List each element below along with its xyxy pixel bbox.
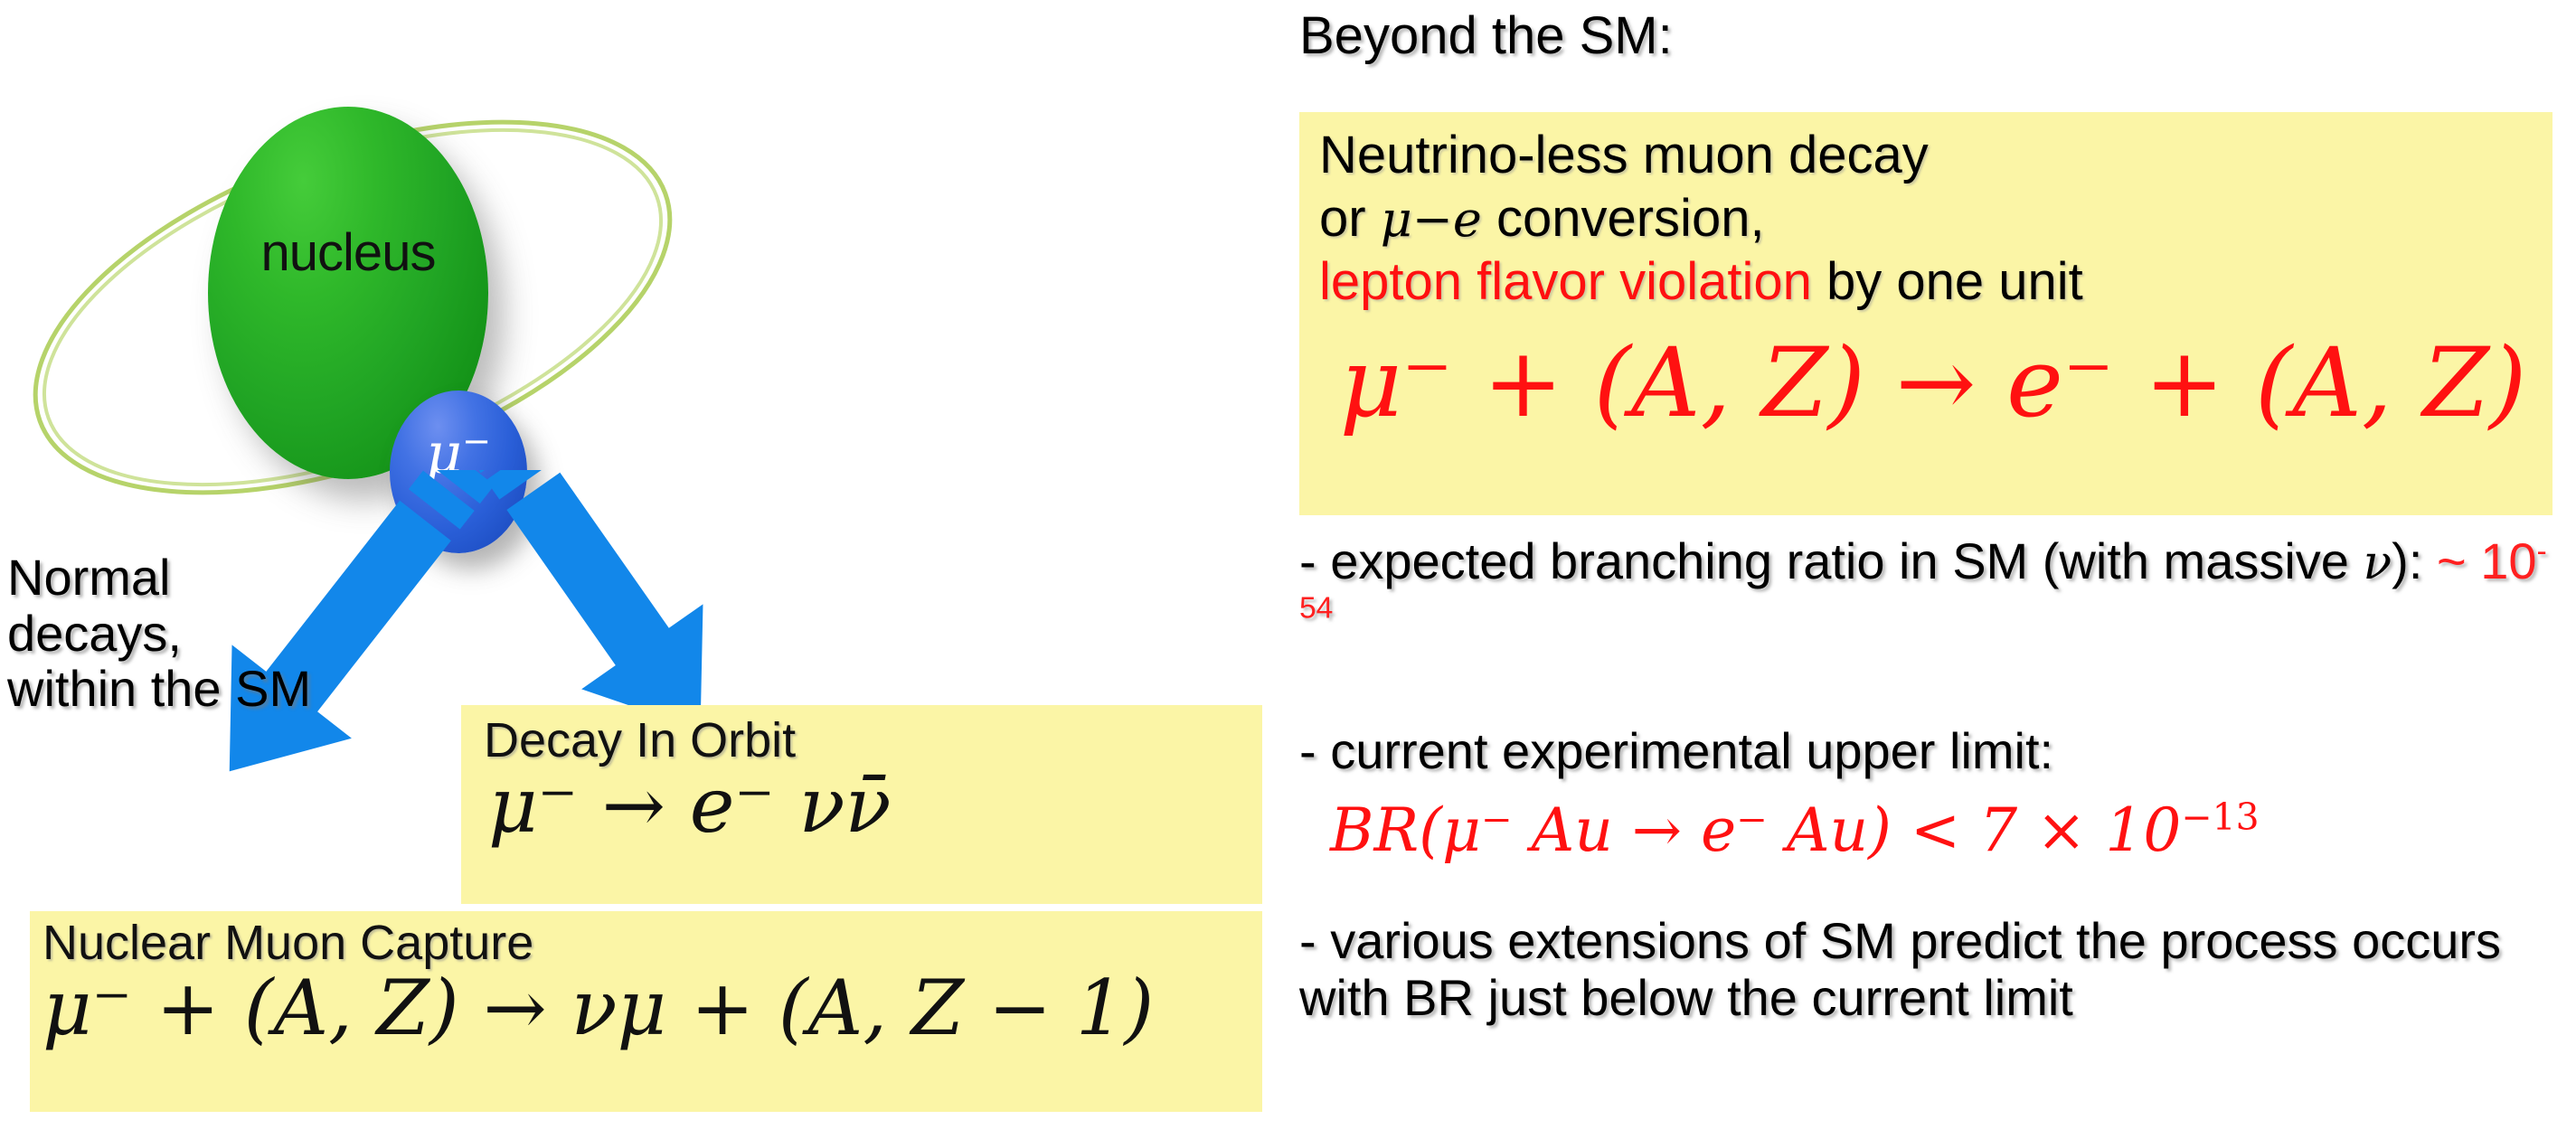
b1-post: ): — [2392, 532, 2437, 589]
mu-e-conversion-equation: μ⁻ + (A, Z) → e⁻ + (A, Z) — [1307, 327, 2560, 438]
beyond-sm-box: Neutrino-less muon decay or μ−e conversi… — [1299, 112, 2552, 515]
b1-math-nu: ν — [2364, 536, 2392, 590]
bsm-line-3: lepton flavor violation by one unit — [1319, 251, 2083, 312]
nucleus-label: nucleus — [208, 222, 488, 283]
bsm-line2-post: conversion, — [1482, 189, 1765, 248]
bullet-upper-limit: - current experimental upper limit: — [1299, 723, 2565, 780]
br-limit-equation: BR(μ⁻ Au → e⁻ Au) < 7 × 10−13 — [1330, 795, 2260, 865]
decay-in-orbit-box: Decay In Orbit μ⁻ → e⁻ νν̄ — [461, 705, 1262, 904]
decay-in-orbit-equation: μ⁻ → e⁻ νν̄ — [488, 761, 892, 850]
beyond-sm-column: Beyond the SM: Neutrino-less muon decay … — [1299, 0, 2576, 1148]
normal-decays-label: Normal decays, within the SM — [7, 550, 396, 717]
bullet-sm-extensions: - various extensions of SM predict the p… — [1299, 913, 2565, 1026]
slide-canvas: nucleus μ− — [0, 0, 2576, 1148]
bsm-line2-math: μ−e — [1381, 191, 1482, 248]
normal-decays-line1: Normal — [7, 550, 396, 606]
b1-pre: - expected branching ratio in SM (with m… — [1299, 532, 2364, 589]
normal-decays-line2: decays, — [7, 606, 396, 662]
muon-nucleus-diagram: nucleus μ− — [0, 0, 1284, 1148]
nuclear-muon-capture-equation: μ⁻ + (A, Z) → νμ + (A, Z − 1) — [42, 964, 1154, 1052]
bsm-line2-pre: or — [1319, 189, 1381, 248]
nuclear-muon-capture-title: Nuclear Muon Capture — [42, 915, 533, 971]
beyond-sm-heading: Beyond the SM: — [1299, 5, 1673, 66]
nuclear-muon-capture-box: Nuclear Muon Capture μ⁻ + (A, Z) → νμ + … — [30, 911, 1262, 1112]
lepton-flavor-violation-text: lepton flavor violation — [1319, 252, 1812, 311]
normal-decays-line3: within the SM — [7, 661, 396, 717]
bsm-line3-black: by one unit — [1812, 252, 2083, 311]
bsm-line-1: Neutrino-less muon decay — [1319, 125, 1929, 185]
bullet-branching-ratio: - expected branching ratio in SM (with m… — [1299, 533, 2565, 646]
decay-in-orbit-title: Decay In Orbit — [484, 712, 796, 768]
bsm-line-2: or μ−e conversion, — [1319, 188, 1765, 249]
